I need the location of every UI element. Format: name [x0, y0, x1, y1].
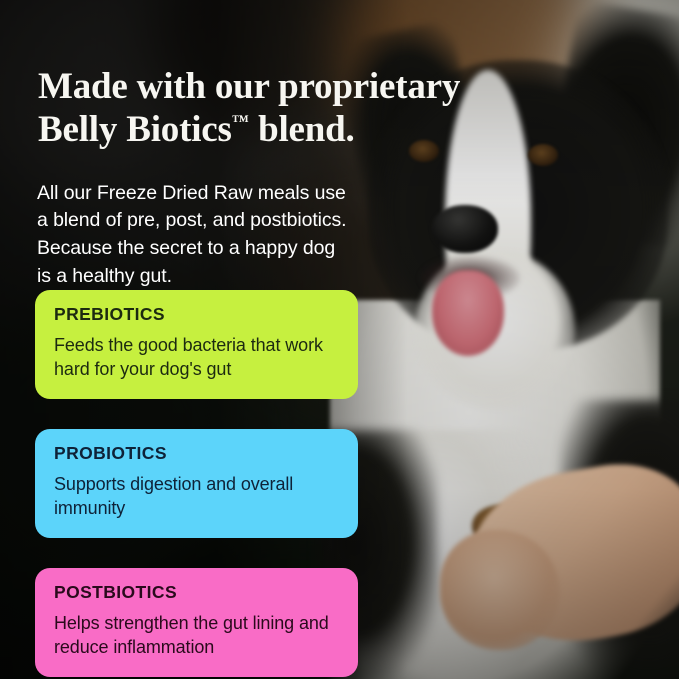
- card-title-prebiotics: PREBIOTICS: [54, 304, 339, 325]
- content-column: Made with our proprietaryBelly Biotics™ …: [0, 0, 679, 679]
- headline-brand: Belly Biotics: [38, 109, 232, 150]
- card-body-probiotics: Supports digestion and overall immunity: [54, 473, 339, 521]
- card-body-prebiotics: Feeds the good bacteria that work hard f…: [54, 334, 339, 382]
- page-title: Made with our proprietaryBelly Biotics™ …: [38, 65, 468, 152]
- promo-banner: Made with our proprietaryBelly Biotics™ …: [0, 0, 679, 679]
- card-title-probiotics: PROBIOTICS: [54, 443, 339, 464]
- benefit-card-probiotics: PROBIOTICS Supports digestion and overal…: [35, 429, 358, 538]
- card-body-postbiotics: Helps strengthen the gut lining and redu…: [54, 612, 339, 660]
- trademark-symbol: ™: [232, 112, 249, 131]
- benefit-card-prebiotics: PREBIOTICS Feeds the good bacteria that …: [35, 290, 358, 399]
- headline-line-2-suffix: blend.: [249, 109, 355, 150]
- subcopy-paragraph: All our Freeze Dried Raw meals use a ble…: [37, 180, 352, 292]
- benefit-card-postbiotics: POSTBIOTICS Helps strengthen the gut lin…: [35, 568, 358, 677]
- headline-line-1: Made with our proprietary: [38, 66, 460, 107]
- benefit-card-list: PREBIOTICS Feeds the good bacteria that …: [35, 290, 358, 677]
- card-title-postbiotics: POSTBIOTICS: [54, 582, 339, 603]
